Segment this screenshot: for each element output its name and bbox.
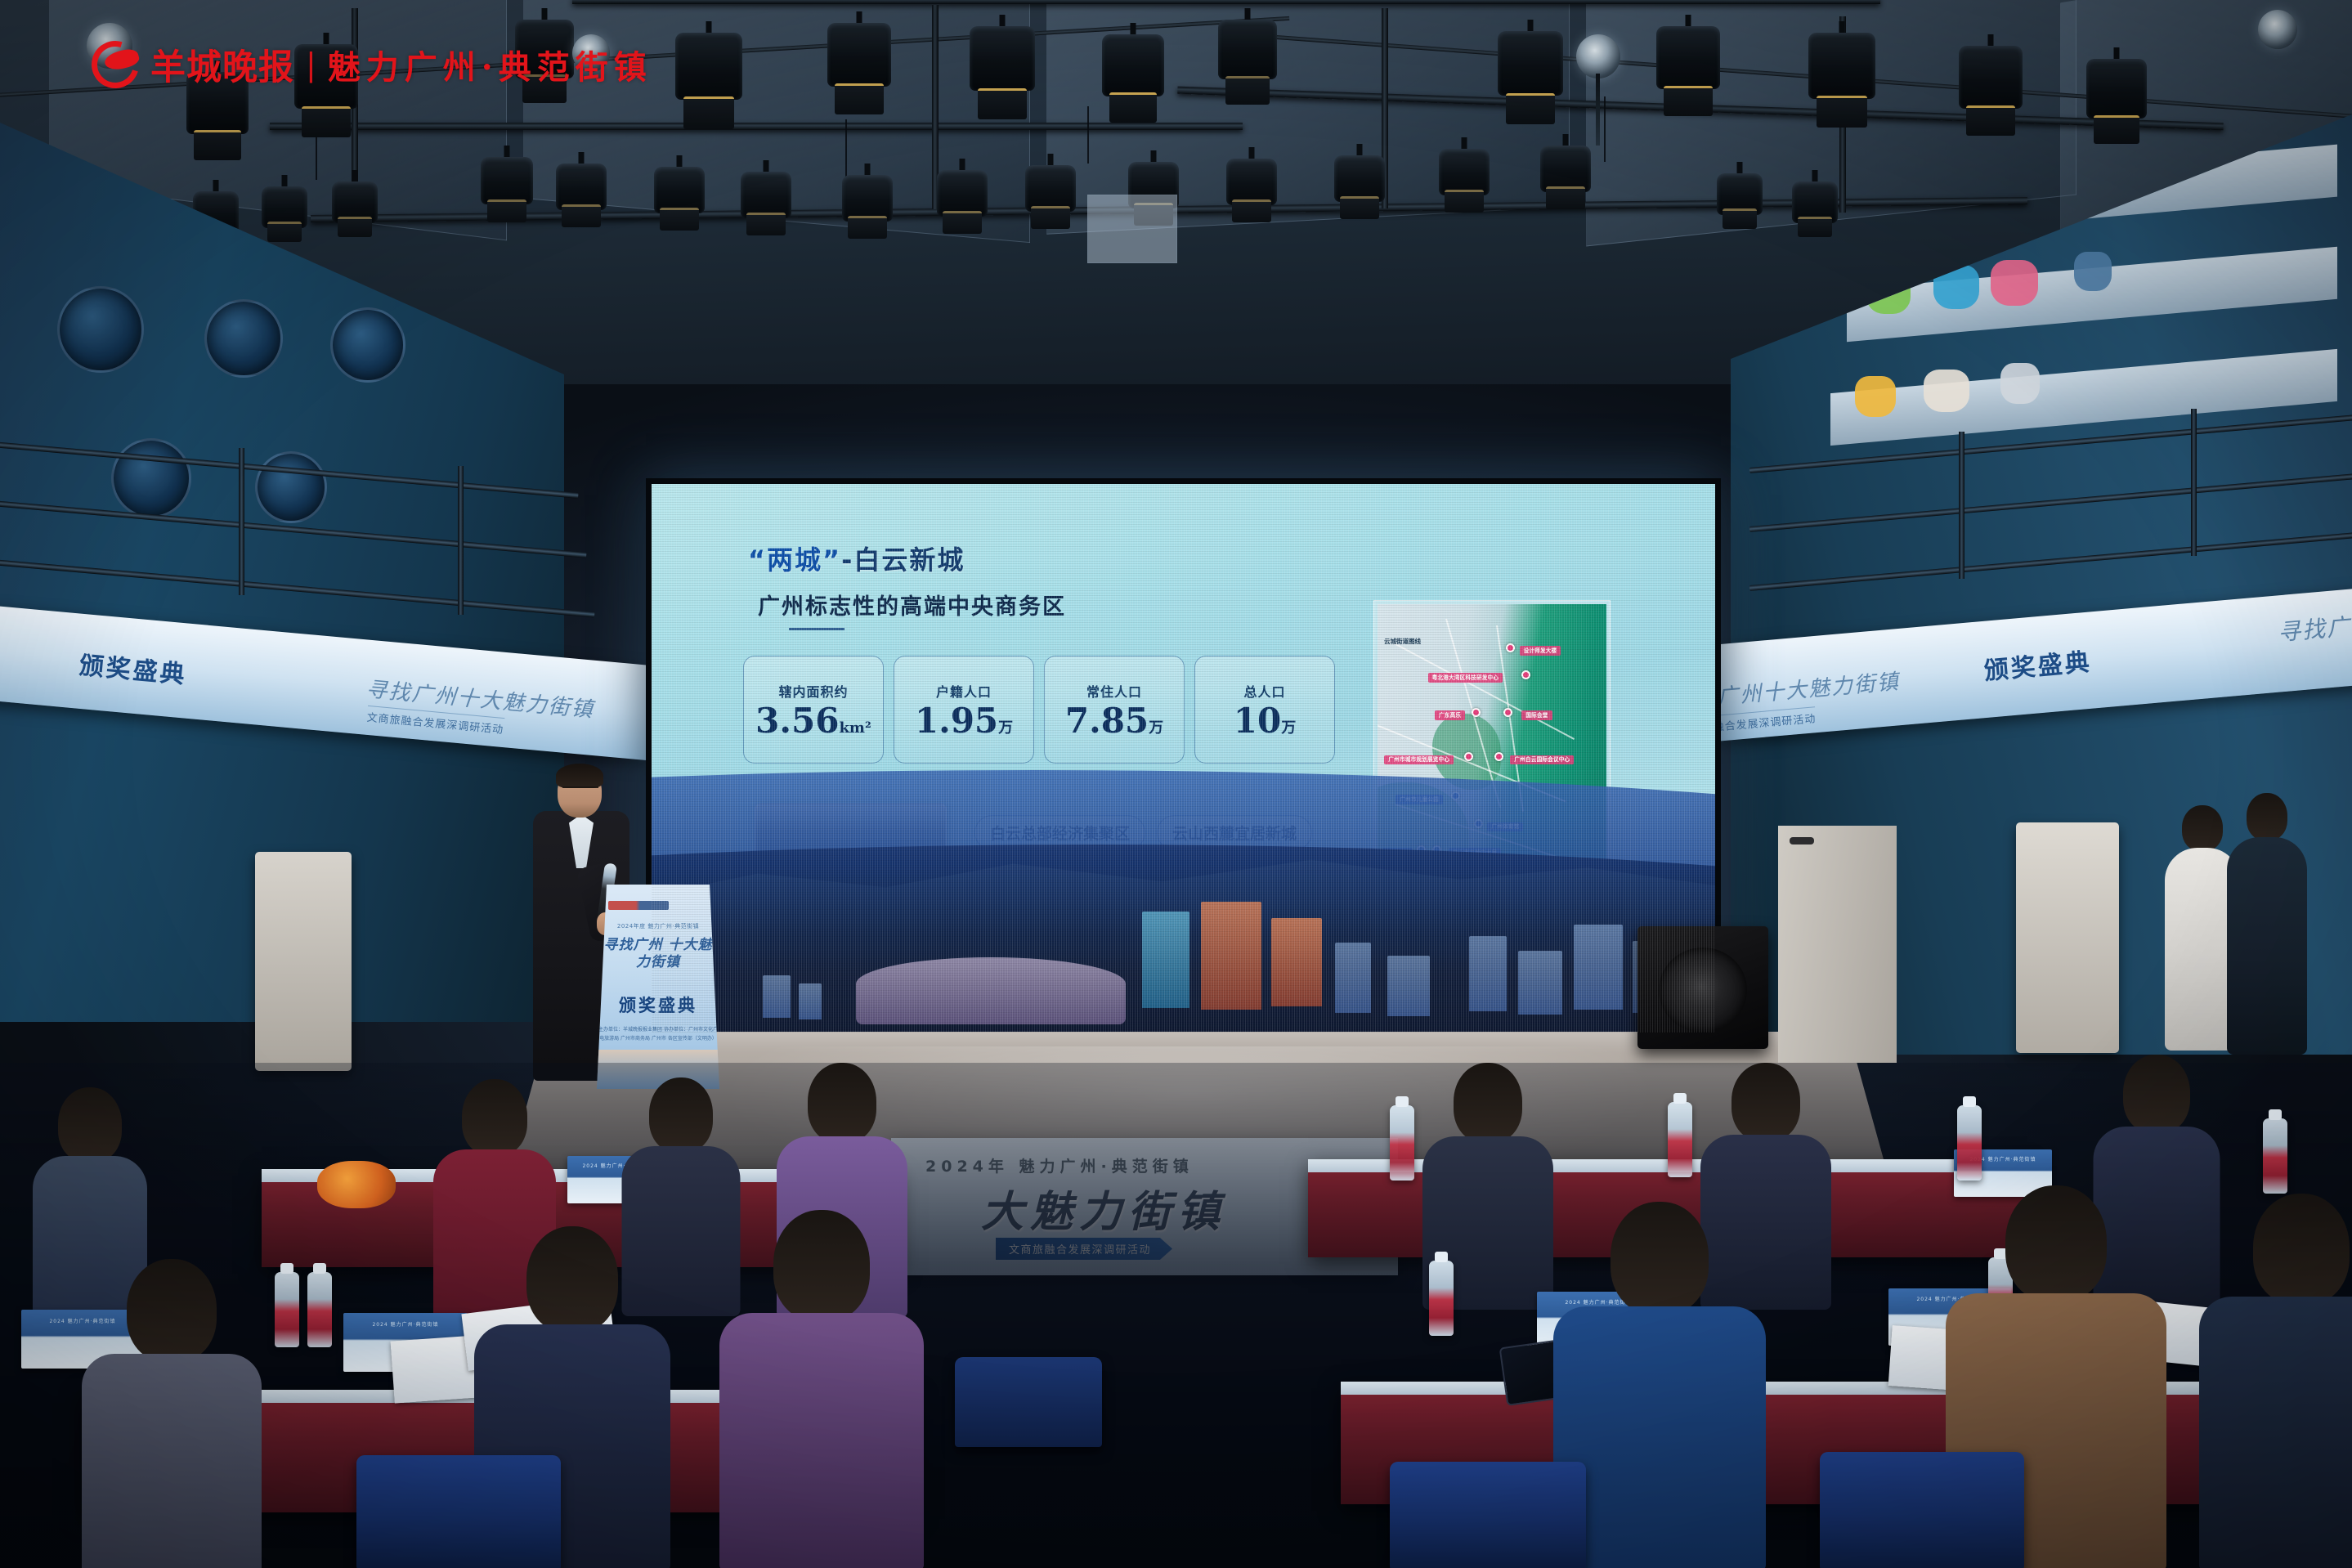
- map-marker: [1521, 670, 1530, 679]
- map-marker: [1472, 708, 1481, 717]
- stage-light-moving-head: [1334, 144, 1385, 219]
- podium-top-line: 2024年度 魅力广州·典范街镇: [597, 922, 719, 930]
- stat-unit: 万: [998, 719, 1013, 737]
- back-banner-calligraphy: 大魅力街镇: [981, 1177, 1226, 1239]
- stage-light-par: [1218, 8, 1277, 105]
- map-label: 广州白云国际会议中心: [1510, 755, 1574, 765]
- podium-calligraphy: 寻找广州 十大魅力街镇: [597, 937, 719, 972]
- map-label: 设计师发大楼: [1520, 646, 1561, 656]
- stage-light-pin-stem: [1596, 74, 1600, 146]
- air-conditioner-right: [2016, 822, 2119, 1053]
- back-banner-arrow-label: 文商旅融合发展深调研活动: [996, 1238, 1172, 1260]
- slide-subtitle: 广州标志性的高端中央商务区: [758, 589, 1066, 620]
- stat-unit: 万: [1149, 719, 1163, 737]
- audience-chair[interactable]: [1820, 1452, 2024, 1568]
- water-bottle: [1390, 1105, 1414, 1180]
- stage-light-par: [1102, 23, 1164, 123]
- stage-light-par: [970, 15, 1035, 119]
- water-bottle: [1957, 1105, 1982, 1180]
- stage-light-par: [1959, 34, 2023, 136]
- stage-light-fresnel: [2258, 10, 2297, 49]
- stage-light-par: [2086, 47, 2147, 144]
- table-flower-arrangement: [317, 1161, 396, 1208]
- watermark: 羊城晚报 | 魅力广州·典范街镇: [92, 39, 652, 90]
- stage-light-moving-head: [481, 146, 533, 222]
- balcony-banner-right-edge: 寻找广: [2276, 609, 2352, 648]
- glasses-icon: [562, 786, 598, 795]
- stage-light-moving-head: [556, 152, 607, 227]
- plush-toy: [1855, 376, 1896, 417]
- stage-light-moving-head: [1025, 154, 1076, 229]
- audience-chair[interactable]: [356, 1455, 561, 1568]
- map-label: 广州市城市规划展览中心: [1384, 755, 1454, 765]
- stage-light-moving-head: [842, 164, 893, 239]
- stat-label: 辖内面积约: [778, 681, 848, 701]
- wall-porthole: [255, 451, 327, 523]
- slide-title: “两城”-白云新城: [748, 540, 965, 577]
- stage-light-par: [675, 21, 742, 129]
- map-marker: [1503, 708, 1512, 717]
- watermark-publication: 羊城晚报: [150, 39, 294, 90]
- podium-footer: 主办单位：羊城晚报报业集团 协办单位：广州市文化广电旅游局 广州市商务局 广州市…: [597, 1025, 719, 1044]
- audience-chair[interactable]: [1390, 1462, 1586, 1568]
- back-banner-top-line: 2024年 魅力广州·典范街镇: [925, 1154, 1194, 1176]
- stat-label: 总人口: [1243, 681, 1285, 701]
- watermark-separator: |: [306, 47, 316, 83]
- stage-light-par: [1656, 15, 1720, 116]
- wall-porthole: [330, 307, 405, 383]
- stage-light-par: [827, 11, 891, 114]
- wall-porthole: [57, 286, 144, 373]
- stage-light-moving-head: [741, 160, 791, 235]
- stage-light-moving-head: [937, 159, 988, 234]
- door-handle-icon[interactable]: [1790, 837, 1814, 844]
- audience-member: [82, 1259, 262, 1568]
- stat-card: 辖内面积约 3.56km²: [743, 656, 884, 764]
- yangcheng-evening-news-logo-icon: [608, 901, 669, 910]
- plush-toy: [2000, 363, 2040, 404]
- stat-card: 常住人口 7.85万: [1044, 656, 1185, 764]
- audience-member: [719, 1210, 924, 1568]
- map-marker: [1494, 752, 1503, 761]
- balcony-banner-right-title: 颁奖盛典: [1982, 642, 2093, 687]
- map-label: 粤北港大湾区科技研发中心: [1428, 673, 1503, 683]
- stage-light-moving-head: [654, 155, 705, 231]
- map-label: 广东高乐: [1435, 710, 1465, 720]
- railing-post: [239, 448, 244, 595]
- wall-porthole: [111, 438, 191, 518]
- plush-toy: [1924, 370, 1969, 412]
- stage-light-moving-head: [1717, 162, 1763, 229]
- stat-card: 户籍人口 1.95万: [894, 656, 1034, 764]
- stage-light-fresnel: [1576, 34, 1620, 78]
- standing-attendee-man: [2227, 793, 2307, 1055]
- stage-light-par: [1498, 20, 1563, 124]
- stage-side-door[interactable]: [1778, 826, 1897, 1063]
- water-bottle: [2263, 1118, 2287, 1194]
- railing-post: [458, 466, 464, 615]
- map-label: 国际会堂: [1521, 710, 1552, 720]
- plush-toy: [1991, 260, 2038, 306]
- slide-subtitle-rule: [789, 628, 844, 630]
- yangcheng-evening-news-logo-icon: [92, 41, 139, 88]
- stat-value: 7.85万: [1065, 704, 1163, 738]
- podium-main-title: 颁奖盛典: [597, 992, 719, 1017]
- podium-banner: 2024年度 魅力广州·典范街镇 寻找广州 十大魅力街镇 颁奖盛典 主办单位：羊…: [597, 885, 719, 1089]
- slide-title-quoted: “两城”: [748, 544, 841, 576]
- stat-value: 3.56km²: [755, 704, 871, 738]
- stage-light-moving-head: [1226, 147, 1277, 222]
- stage-light-moving-head: [1439, 137, 1490, 213]
- stage-light-moving-head: [262, 175, 307, 242]
- stat-value: 1.95万: [915, 704, 1013, 738]
- water-bottle: [275, 1272, 299, 1347]
- stage-light-par: [1808, 21, 1875, 128]
- plush-toy: [2074, 252, 2112, 291]
- map-marker: [1506, 643, 1515, 652]
- stat-label: 常住人口: [1086, 681, 1142, 701]
- stat-card: 总人口 10万: [1194, 656, 1335, 764]
- stat-unit: km²: [839, 719, 871, 737]
- railing-post: [1959, 432, 1964, 579]
- led-screen-frame: “两城”-白云新城 广州标志性的高端中央商务区 辖内面积约 3.56km² 户籍…: [646, 478, 1721, 1038]
- audience-member: [2199, 1194, 2352, 1568]
- slide-stat-cards: 辖内面积约 3.56km² 户籍人口 1.95万 常住人口 7.85万 总人口 …: [743, 656, 1335, 764]
- water-bottle: [1429, 1261, 1454, 1336]
- speaker-cone-icon: [1659, 948, 1747, 1033]
- stage-light-moving-head: [1540, 134, 1591, 209]
- conference-hall-scene: 颁奖盛典 寻找广州十大魅力街镇 文商旅融合发展深调研活动 寻找广州十大魅力街镇 …: [0, 0, 2352, 1568]
- stat-unit: 万: [1281, 719, 1296, 737]
- water-bottle: [1668, 1102, 1692, 1177]
- railing-post: [2191, 409, 2197, 556]
- water-bottle: [307, 1272, 332, 1347]
- slide-title-rest: -白云新城: [841, 544, 965, 576]
- audience-chair[interactable]: [955, 1357, 1102, 1447]
- watermark-campaign: 魅力广州·典范街镇: [328, 41, 652, 88]
- slide-cityscape: [652, 828, 1715, 1033]
- balcony-banner-left-title: 颁奖盛典: [78, 645, 188, 691]
- presentation-slide: “两城”-白云新城 广州标志性的高端中央商务区 辖内面积约 3.56km² 户籍…: [652, 484, 1715, 1033]
- map-border-note: 云城街道图线: [1384, 637, 1421, 646]
- suspended-panel: [1087, 195, 1177, 263]
- stage-light-moving-head: [1792, 170, 1838, 237]
- display-shelf: [1830, 349, 2337, 446]
- stage-subwoofer: [1637, 926, 1768, 1049]
- stage-light-moving-head: [332, 170, 378, 237]
- stat-label: 户籍人口: [936, 681, 992, 701]
- stat-value: 10万: [1234, 704, 1296, 738]
- air-conditioner-left: [255, 852, 352, 1071]
- wall-porthole: [204, 299, 283, 378]
